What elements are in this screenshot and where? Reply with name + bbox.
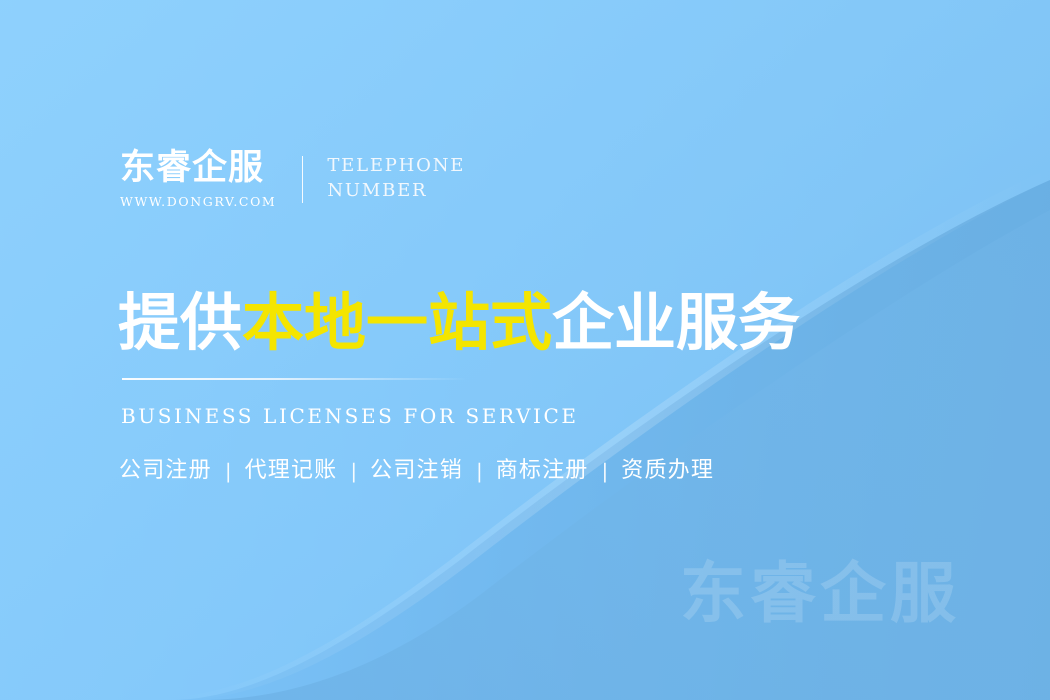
service-separator: | — [476, 456, 483, 486]
service-item-trademark-registration[interactable]: 商标注册 — [496, 456, 589, 486]
promotional-banner: 东睿企服 WWW.DONGRV.COM TELEPHONE NUMBER 提供本… — [0, 0, 1050, 700]
logo-vertical-divider — [302, 156, 303, 203]
service-separator: | — [350, 456, 357, 486]
headline-divider-rule — [122, 378, 467, 380]
service-item-qualification-handling[interactable]: 资质办理 — [621, 456, 714, 486]
service-item-agency-bookkeeping[interactable]: 代理记账 — [245, 456, 338, 486]
service-item-company-registration[interactable]: 公司注册 — [119, 456, 212, 486]
services-list: 公司注册 | 代理记账 | 公司注销 | 商标注册 | 资质办理 — [119, 456, 714, 486]
service-item-company-deregistration[interactable]: 公司注销 — [370, 456, 463, 486]
brand-website: WWW.DONGRV.COM — [120, 194, 276, 210]
logo-brand-group: 东睿企服 WWW.DONGRV.COM — [120, 148, 276, 210]
headline-prefix: 提供 — [118, 286, 242, 359]
service-separator: | — [225, 456, 232, 486]
headline-accent: 本地一站式 — [242, 286, 552, 359]
telephone-label-group: TELEPHONE NUMBER — [327, 153, 465, 203]
english-subtitle: BUSINESS LICENSES FOR SERVICE — [121, 403, 579, 429]
headline-suffix: 企业服务 — [552, 286, 800, 359]
brand-name-cn: 东睿企服 — [120, 148, 264, 188]
telephone-label-line1: TELEPHONE — [327, 153, 465, 178]
brand-watermark: 东睿企服 — [680, 558, 960, 628]
telephone-label-line2: NUMBER — [327, 178, 465, 203]
service-separator: | — [602, 456, 609, 486]
logo-block: 东睿企服 WWW.DONGRV.COM TELEPHONE NUMBER — [120, 148, 465, 210]
headline: 提供本地一站式企业服务 — [118, 288, 800, 358]
